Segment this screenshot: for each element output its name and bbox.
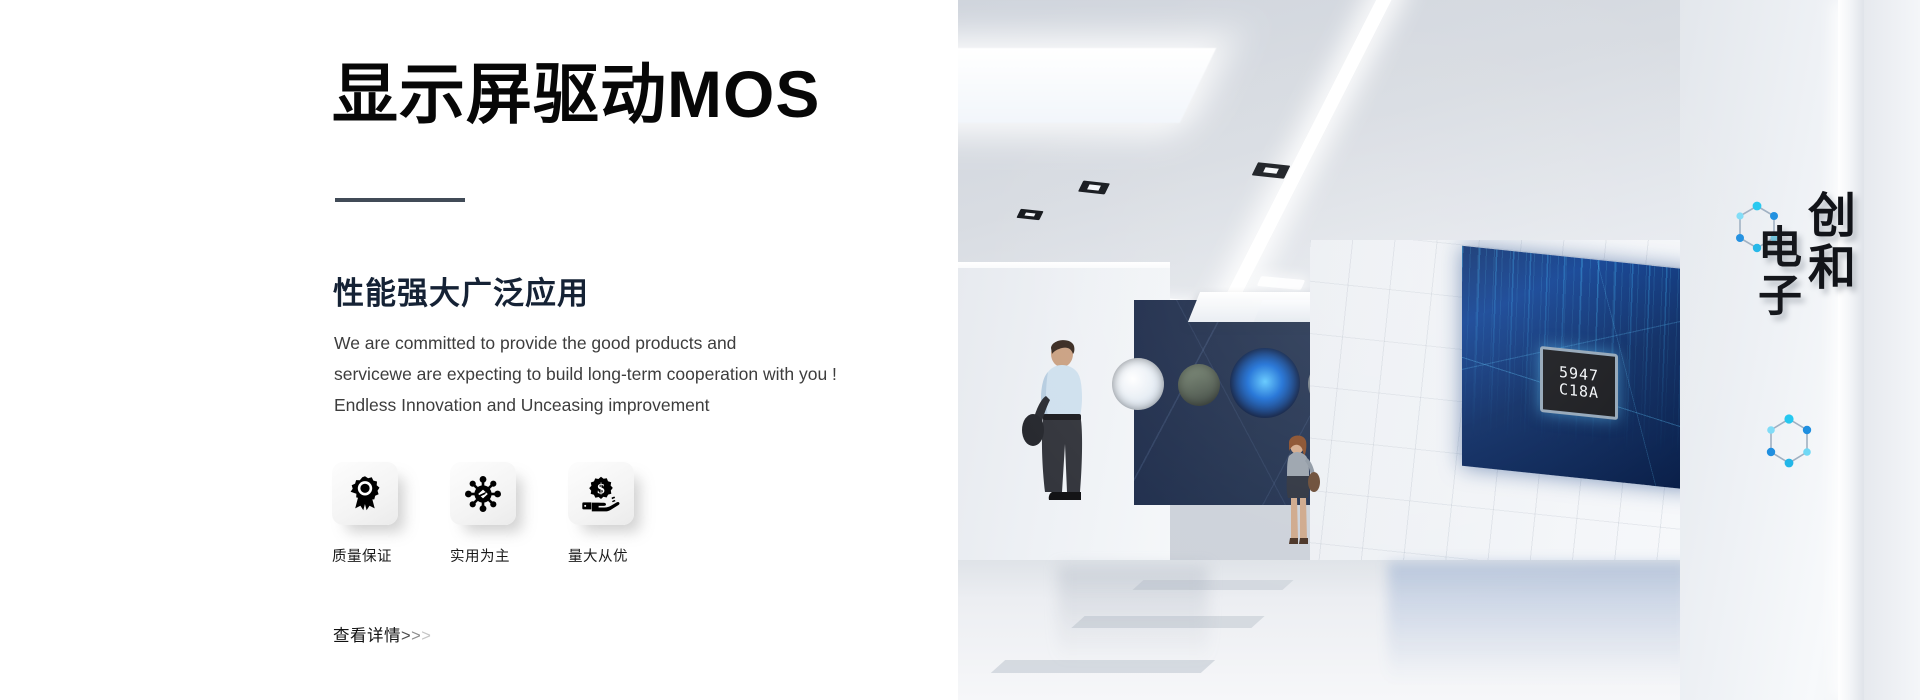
chevron-right-icon: >: [411, 627, 421, 645]
description-line-3: Endless Innovation and Unceasing improve…: [334, 390, 894, 421]
network-hub-icon: [464, 475, 502, 513]
floor-reflection: [1388, 562, 1688, 682]
standing-man-figure: [1018, 332, 1104, 512]
view-details-label: 查看详情: [333, 627, 401, 645]
chevron-right-icon: >: [401, 627, 411, 645]
feature-item-practical[interactable]: 实用为主: [450, 462, 539, 566]
far-wall: [1864, 0, 1920, 700]
page-title: 显示屏驱动MOS: [332, 58, 820, 132]
floor-reflection: [1058, 566, 1208, 662]
porthole-display: [1178, 364, 1220, 406]
porthole-chip-display: [1230, 348, 1300, 418]
hand-money-icon: $: [581, 476, 621, 512]
walking-woman-figure: [1276, 432, 1320, 554]
porthole-display: [1112, 358, 1164, 410]
svg-text:$: $: [597, 481, 605, 497]
feature-item-quality[interactable]: 质量保证: [332, 462, 421, 566]
feature-label: 质量保证: [332, 545, 421, 566]
feature-label: 量大从优: [568, 545, 657, 566]
feature-icon-tile: [332, 462, 398, 525]
chip-line-2: C18A: [1559, 381, 1599, 402]
led-display-screen: 5947 C18A: [1462, 246, 1696, 491]
brand-text-column-right: 创和: [1801, 190, 1850, 450]
showroom-photo: 5947 C18A: [958, 0, 1920, 700]
feature-list: 质量保证: [332, 462, 657, 566]
subheading: 性能强大广泛应用: [333, 268, 589, 313]
chip-graphic: 5947 C18A: [1540, 346, 1618, 420]
chevron-right-icon: >: [421, 627, 431, 645]
feature-item-bulk-price[interactable]: $ 量大从优: [568, 462, 657, 566]
brand-wall-text: 创和 电子: [1700, 190, 1850, 450]
feature-icon-tile: $: [568, 462, 634, 525]
brand-text-column-left: 电子: [1752, 224, 1797, 450]
view-details-link[interactable]: 查看详情>>>: [333, 622, 431, 646]
text-panel: 显示屏驱动MOS 性能强大广泛应用 We are committed to pr…: [0, 0, 958, 700]
feature-label: 实用为主: [450, 545, 539, 566]
description-paragraph: We are committed to provide the good pro…: [334, 328, 894, 421]
title-divider: [335, 198, 465, 202]
description-line-2: servicewe are expecting to build long-te…: [334, 359, 894, 390]
promo-banner: 显示屏驱动MOS 性能强大广泛应用 We are committed to pr…: [0, 0, 1920, 700]
description-line-1: We are committed to provide the good pro…: [334, 328, 894, 359]
feature-icon-tile: [450, 462, 516, 525]
skylight-panel: [958, 48, 1216, 123]
award-ribbon-icon: [347, 475, 383, 513]
